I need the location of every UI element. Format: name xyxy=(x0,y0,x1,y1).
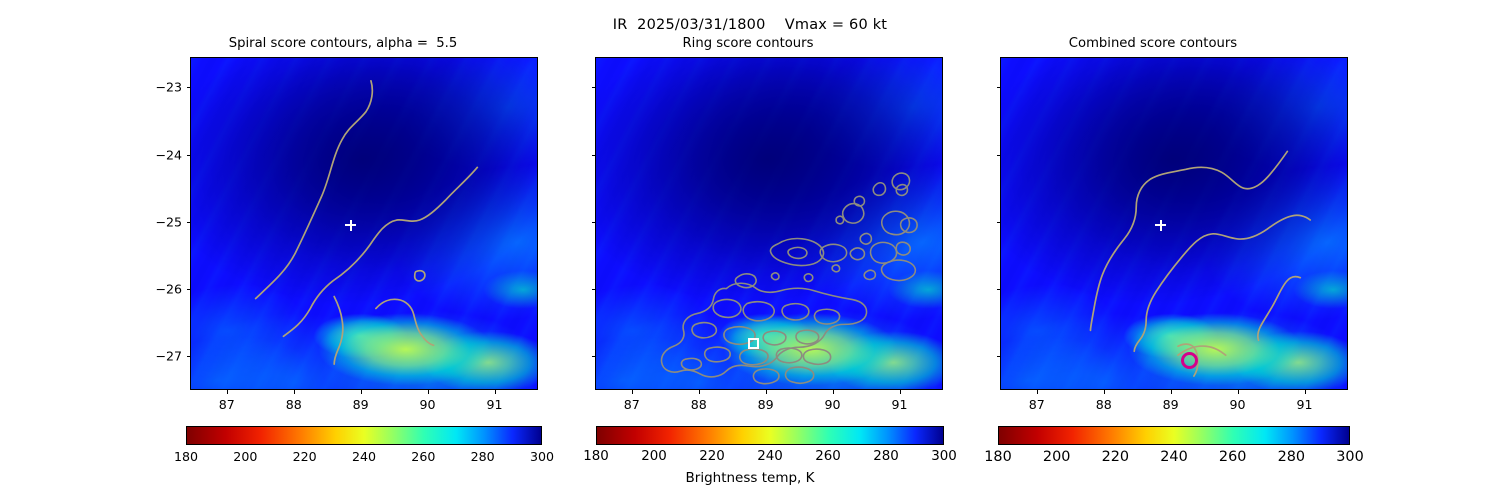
x-tick-label: 89 xyxy=(353,397,369,412)
colorbar-tick-label: 200 xyxy=(1043,449,1070,465)
colorbar-tick-label: 180 xyxy=(174,449,198,464)
panel-combined-score: Combined score contours 8788899091 xyxy=(948,0,1358,500)
colorbar-ticklabels-spiral: 180200220240260280300 xyxy=(186,449,542,467)
x-tick-label: 90 xyxy=(825,397,841,412)
combined-score-contour-overlay xyxy=(1001,58,1347,389)
colorbar-ticklabels-ring: 180200220240260280300 xyxy=(596,449,944,467)
y-tick-mark xyxy=(592,356,596,357)
colorbar-tick-label: 260 xyxy=(1219,449,1246,465)
x-tick-mark xyxy=(900,390,901,394)
figure-canvas: IR 2025/03/31/1800 Vmax = 60 kt Spiral s… xyxy=(0,0,1500,500)
panel-ring-title: Ring score contours xyxy=(543,36,953,51)
x-tick-label: 91 xyxy=(486,397,502,412)
y-tick-mark xyxy=(187,289,191,290)
y-tick-mark xyxy=(592,155,596,156)
y-tick-mark xyxy=(187,87,191,88)
colorbar-tick-label: 180 xyxy=(984,449,1011,465)
y-tick-label: −23 xyxy=(138,80,182,95)
storm-center-plus-marker xyxy=(1155,220,1166,231)
x-tick-mark xyxy=(495,390,496,394)
colorbar-tick-label: 220 xyxy=(1102,449,1129,465)
storm-center-plus-marker xyxy=(345,220,356,231)
colorbar-tick-label: 180 xyxy=(583,449,609,464)
colorbar-tick-label: 300 xyxy=(931,449,957,464)
colorbar-tick-label: 300 xyxy=(530,449,554,464)
colorbar-tick-label: 200 xyxy=(233,449,257,464)
x-tick-label: 89 xyxy=(758,397,774,412)
colorbar-spiral xyxy=(186,426,542,445)
x-tick-mark xyxy=(632,390,633,394)
panel-spiral-score: Spiral score contours, alpha = 5.5 −23−2… xyxy=(138,0,548,500)
ring-center-square-marker xyxy=(748,338,759,349)
x-tick-mark xyxy=(294,390,295,394)
colorbar-tick-label: 240 xyxy=(352,449,376,464)
x-tick-mark xyxy=(1305,390,1306,394)
colorbar-combined xyxy=(998,426,1350,445)
panel-combined-title: Combined score contours xyxy=(948,36,1358,51)
x-tick-mark xyxy=(1037,390,1038,394)
x-tick-label: 88 xyxy=(691,397,707,412)
y-tick-label: −24 xyxy=(138,147,182,162)
x-tick-mark xyxy=(1171,390,1172,394)
y-tick-mark xyxy=(592,222,596,223)
x-tick-label: 91 xyxy=(1296,397,1312,412)
x-tick-mark xyxy=(833,390,834,394)
combined-center-circle-marker xyxy=(1181,352,1198,369)
y-tick-mark xyxy=(997,289,1001,290)
colorbar-tick-label: 240 xyxy=(1160,449,1187,465)
x-tick-label: 90 xyxy=(420,397,436,412)
colorbar-tick-label: 220 xyxy=(699,449,725,464)
axes-ring[interactable] xyxy=(595,57,943,390)
x-tick-mark xyxy=(428,390,429,394)
y-tick-mark xyxy=(592,289,596,290)
ring-score-contour-overlay xyxy=(596,58,942,389)
axes-spiral[interactable] xyxy=(190,57,538,390)
y-tick-mark xyxy=(997,155,1001,156)
colorbar-tick-label: 260 xyxy=(411,449,435,464)
x-tick-label: 88 xyxy=(286,397,302,412)
x-tick-label: 90 xyxy=(1230,397,1246,412)
x-tick-label: 91 xyxy=(891,397,907,412)
y-tick-mark xyxy=(187,155,191,156)
x-tick-mark xyxy=(1104,390,1105,394)
colorbar-tick-label: 300 xyxy=(1336,449,1363,465)
colorbar-tick-label: 240 xyxy=(757,449,783,464)
x-tick-label: 87 xyxy=(624,397,640,412)
x-tick-mark xyxy=(1238,390,1239,394)
axes-combined[interactable] xyxy=(1000,57,1348,390)
x-tick-mark xyxy=(699,390,700,394)
colorbar-tick-label: 200 xyxy=(641,449,667,464)
x-tick-label: 87 xyxy=(219,397,235,412)
x-tick-label: 88 xyxy=(1096,397,1112,412)
colorbar-tick-label: 220 xyxy=(293,449,317,464)
x-tick-mark xyxy=(766,390,767,394)
colorbar-tick-label: 280 xyxy=(873,449,899,464)
y-tick-mark xyxy=(592,87,596,88)
y-tick-label: −26 xyxy=(138,282,182,297)
y-tick-mark xyxy=(997,87,1001,88)
y-tick-mark xyxy=(187,356,191,357)
y-tick-label: −27 xyxy=(138,349,182,364)
panel-spiral-title: Spiral score contours, alpha = 5.5 xyxy=(138,36,548,51)
colorbar-axis-label: Brightness temp, K xyxy=(0,470,1500,486)
x-tick-mark xyxy=(227,390,228,394)
y-tick-mark xyxy=(997,356,1001,357)
spiral-score-contour-overlay xyxy=(191,58,537,389)
colorbar-ring xyxy=(596,426,944,445)
y-tick-mark xyxy=(997,222,1001,223)
colorbar-ticklabels-combined: 180200220240260280300 xyxy=(998,449,1350,467)
x-tick-label: 89 xyxy=(1163,397,1179,412)
colorbar-tick-label: 260 xyxy=(815,449,841,464)
x-tick-mark xyxy=(361,390,362,394)
y-tick-mark xyxy=(187,222,191,223)
colorbar-tick-label: 280 xyxy=(471,449,495,464)
colorbar-tick-label: 280 xyxy=(1278,449,1305,465)
x-tick-label: 87 xyxy=(1029,397,1045,412)
y-tick-label: −25 xyxy=(138,214,182,229)
panel-ring-score: Ring score contours xyxy=(543,0,953,500)
